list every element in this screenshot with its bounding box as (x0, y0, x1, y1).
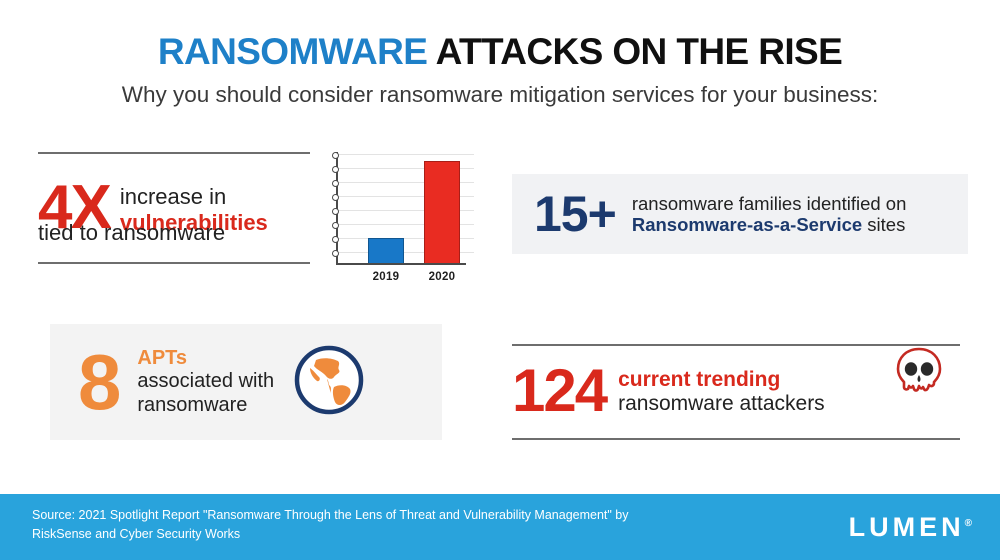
stat-block-15-plus: 15+ ransomware families identified on Ra… (512, 174, 968, 254)
axis-tick (332, 166, 339, 173)
bar-chart: 2019 2020 (326, 150, 474, 288)
footer-bar: Source: 2021 Spotlight Report "Ransomwar… (0, 494, 1000, 560)
axis-tick (332, 236, 339, 243)
axis-tick (332, 208, 339, 215)
chart-x-axis (336, 263, 466, 265)
stat-8-line1: APTs (137, 347, 187, 369)
lumen-logo: LUMEN® (849, 512, 972, 543)
divider-bottom (512, 438, 960, 440)
title-rest: ATTACKS ON THE RISE (427, 31, 842, 72)
stat-4x-line3: tied to ransomware (38, 220, 225, 246)
footer-source-text: Source: 2021 Spotlight Report "Ransomwar… (32, 506, 632, 544)
stat-number-15-plus: 15+ (534, 189, 616, 239)
chart-bar-2019 (368, 238, 404, 264)
axis-tick (332, 194, 339, 201)
axis-tick (332, 152, 339, 159)
stat-block-8-apts: 8 APTs associated with ransomware (50, 324, 442, 440)
gridline (338, 154, 474, 155)
stat-15-line2-rest: sites (862, 214, 905, 235)
divider-bottom (38, 262, 310, 264)
stat-124-line2: ransomware attackers (618, 392, 825, 415)
stat-15-line1: ransomware families identified on (632, 193, 907, 214)
chart-plot-area (338, 150, 474, 264)
chart-xlabel-2019: 2019 (354, 271, 418, 283)
stat-4x-line1: increase in (120, 184, 226, 209)
stat-block-124: 124 current trending ransomware attacker… (512, 344, 960, 440)
lumen-wordmark: LUMEN (849, 512, 965, 542)
registered-trademark-icon: ® (965, 518, 972, 529)
stat-text-124: current trending ransomware attackers (618, 368, 825, 417)
skull-icon (894, 346, 944, 403)
stat-number-8: 8 (78, 343, 119, 421)
globe-icon (292, 343, 366, 422)
chart-xlabel-2020: 2020 (410, 271, 474, 283)
stat-text-15-plus: ransomware families identified on Ransom… (632, 193, 907, 236)
stat-block-4x: 4X increase in vulnerabilities tied to r… (38, 152, 310, 264)
page-title: RANSOMWARE ATTACKS ON THE RISE (0, 30, 1000, 74)
axis-tick (332, 222, 339, 229)
stat-text-8-apts: APTs associated with ransomware (137, 347, 274, 417)
stat-8-line2: associated with (137, 370, 274, 392)
chart-bar-2020 (424, 161, 460, 264)
page-subtitle: Why you should consider ransomware mitig… (0, 80, 1000, 110)
title-highlight: RANSOMWARE (158, 31, 427, 72)
stat-124-line1: current trending (618, 368, 780, 391)
axis-tick (332, 180, 339, 187)
stat-number-124: 124 (512, 361, 606, 421)
stat-15-line2-bold: Ransomware-as-a-Service (632, 214, 862, 235)
stat-8-line3: ransomware (137, 394, 247, 416)
axis-tick (332, 250, 339, 257)
